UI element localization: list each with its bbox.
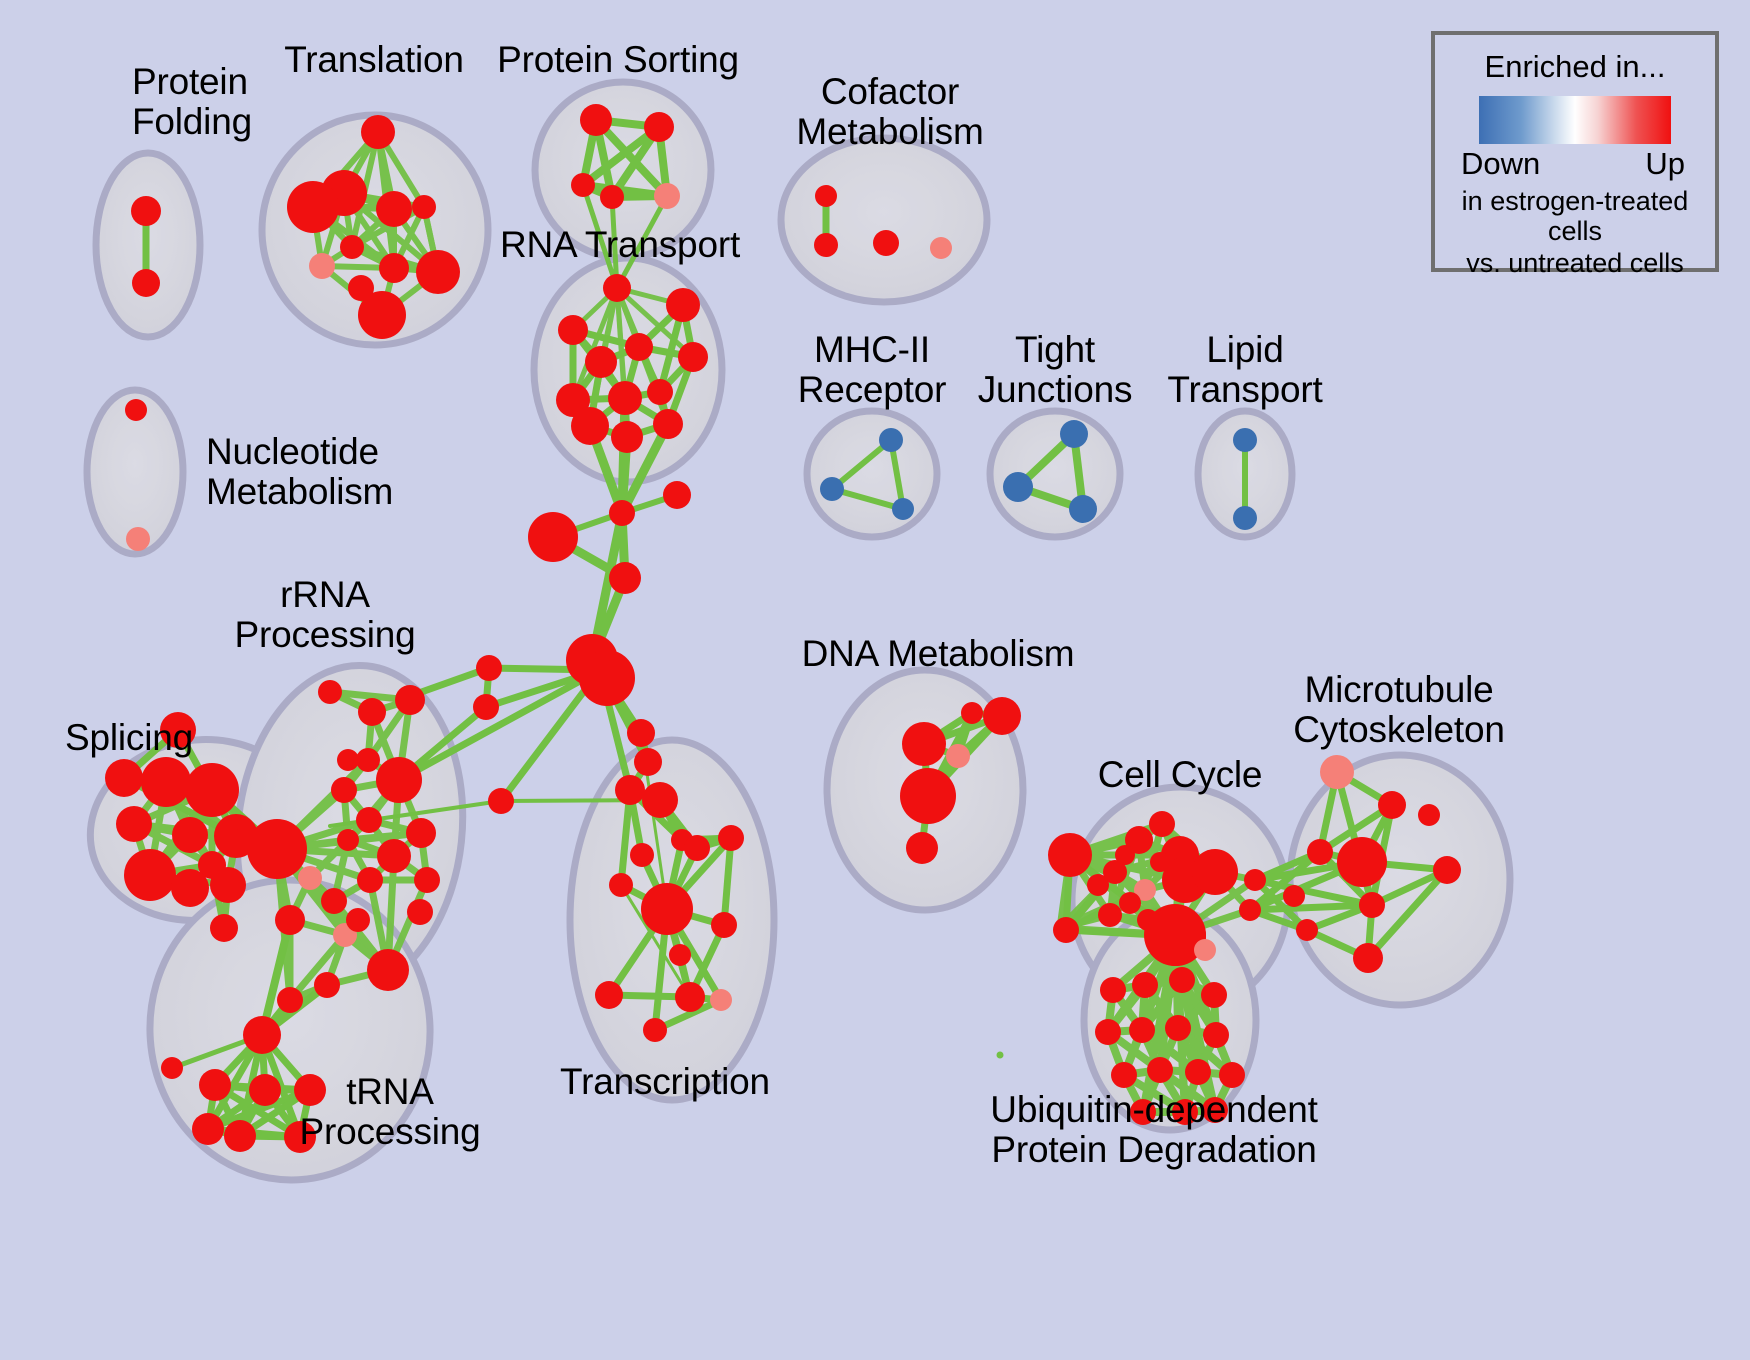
node <box>611 421 643 453</box>
node <box>609 562 641 594</box>
legend-endpoints: Down Up <box>1461 146 1689 184</box>
cluster-label-protein-folding: Protein Folding <box>132 62 252 141</box>
node <box>141 757 191 807</box>
node <box>608 381 642 415</box>
node <box>1239 899 1261 921</box>
legend-title: Enriched in... <box>1435 49 1715 85</box>
node <box>356 748 380 772</box>
node <box>171 869 209 907</box>
node <box>571 173 595 197</box>
node <box>710 989 732 1011</box>
legend-caption-line1: in estrogen-treated cells <box>1435 186 1715 246</box>
node <box>185 763 239 817</box>
node <box>407 899 433 925</box>
node <box>1129 1017 1155 1043</box>
node <box>199 1069 231 1101</box>
node <box>116 806 152 842</box>
node <box>287 181 339 233</box>
cluster-label-translation: Translation <box>284 40 463 80</box>
node <box>600 185 624 209</box>
node <box>476 655 502 681</box>
node <box>1111 1062 1137 1088</box>
legend-down-label: Down <box>1461 146 1540 182</box>
node <box>641 883 693 935</box>
node <box>1169 967 1195 993</box>
node <box>416 250 460 294</box>
node <box>309 253 335 279</box>
node <box>126 527 150 551</box>
node <box>647 379 673 405</box>
cluster-label-tight-junctions: Tight Junctions <box>978 330 1133 409</box>
node <box>298 866 322 890</box>
node <box>1233 428 1257 452</box>
node <box>961 702 983 724</box>
node <box>1048 833 1092 877</box>
node <box>1283 885 1305 907</box>
node <box>1100 977 1126 1003</box>
node <box>224 1120 256 1152</box>
legend-color-bar <box>1479 96 1671 144</box>
node <box>630 843 654 867</box>
node <box>528 512 578 562</box>
node <box>627 719 655 747</box>
cluster-label-nucleotide-metabolism: Nucleotide Metabolism <box>206 432 393 511</box>
node <box>892 498 914 520</box>
node <box>1233 506 1257 530</box>
node <box>361 115 395 149</box>
node <box>1433 856 1461 884</box>
node <box>643 1018 667 1042</box>
node <box>105 759 143 797</box>
node <box>678 342 708 372</box>
node <box>356 807 382 833</box>
node <box>1219 1062 1245 1088</box>
node <box>161 1057 183 1079</box>
legend-up-label: Up <box>1645 146 1685 182</box>
node <box>340 235 364 259</box>
node <box>331 777 357 803</box>
node <box>669 944 691 966</box>
cluster-label-rna-transport: RNA Transport <box>500 225 740 265</box>
node <box>1201 982 1227 1008</box>
node <box>675 982 705 1012</box>
node <box>609 873 633 897</box>
node <box>663 481 691 509</box>
node <box>210 867 246 903</box>
node <box>644 112 674 142</box>
node <box>1095 1019 1121 1045</box>
node <box>210 914 238 942</box>
node <box>1337 837 1387 887</box>
cluster-label-rrna-processing: rRNA Processing <box>234 575 415 654</box>
node <box>1378 791 1406 819</box>
node <box>1003 472 1033 502</box>
node <box>358 291 406 339</box>
node <box>642 782 678 818</box>
cluster-label-cofactor-metabolism: Cofactor Metabolism <box>796 72 983 151</box>
node <box>815 185 837 207</box>
node <box>1098 903 1122 927</box>
node <box>571 407 609 445</box>
node <box>357 867 383 893</box>
node <box>930 237 952 259</box>
node <box>1165 1015 1191 1041</box>
node <box>558 315 588 345</box>
node <box>1069 495 1097 523</box>
node <box>946 744 970 768</box>
node <box>277 987 303 1013</box>
node <box>1119 892 1141 914</box>
node <box>625 333 653 361</box>
node <box>1244 869 1266 891</box>
node <box>718 825 744 851</box>
node <box>395 685 425 715</box>
node <box>1418 804 1440 826</box>
node <box>132 269 160 297</box>
node <box>654 183 680 209</box>
node <box>337 829 359 851</box>
node <box>172 817 208 853</box>
node <box>414 867 440 893</box>
cluster-label-dna-metabolism: DNA Metabolism <box>802 634 1075 674</box>
node <box>318 680 342 704</box>
cluster-label-microtubule-cytoskeleton: Microtubule Cytoskeleton <box>1293 670 1505 749</box>
node <box>125 399 147 421</box>
node <box>131 196 161 226</box>
node <box>814 233 838 257</box>
node <box>906 832 938 864</box>
node <box>321 888 347 914</box>
node <box>1353 943 1383 973</box>
node <box>275 905 305 935</box>
node <box>376 191 412 227</box>
node <box>615 775 645 805</box>
node <box>580 104 612 136</box>
node <box>900 768 956 824</box>
node <box>1185 1059 1211 1085</box>
legend-box: Enriched in... Down Up in estrogen-treat… <box>1431 31 1719 272</box>
cluster-label-transcription: Transcription <box>560 1062 770 1102</box>
cluster-label-ubiquitin-degradation: Ubiquitin-dependent Protein Degradation <box>990 1090 1317 1169</box>
halo-tight-junctions <box>990 411 1120 537</box>
node <box>1192 849 1238 895</box>
node <box>376 757 422 803</box>
node <box>1060 420 1088 448</box>
node <box>249 1074 281 1106</box>
node <box>124 849 176 901</box>
node <box>820 477 844 501</box>
node <box>873 230 899 256</box>
node <box>243 1016 281 1054</box>
cluster-label-cell-cycle: Cell Cycle <box>1098 755 1263 795</box>
cluster-label-protein-sorting: Protein Sorting <box>497 40 739 80</box>
cluster-label-splicing: Splicing <box>65 718 193 758</box>
node <box>1087 874 1109 896</box>
node <box>1359 892 1385 918</box>
node <box>412 195 436 219</box>
node <box>1115 845 1135 865</box>
node <box>983 697 1021 735</box>
enrichment-map-figure: Protein FoldingTranslationProtein Sortin… <box>0 0 1750 1360</box>
node <box>1203 1022 1229 1048</box>
node <box>379 253 409 283</box>
cluster-label-mhc-ii-receptor: MHC-II Receptor <box>798 330 947 409</box>
node <box>579 650 635 706</box>
halo-mhc <box>807 411 937 537</box>
node <box>1147 1057 1173 1083</box>
node <box>367 949 409 991</box>
node <box>247 819 307 879</box>
node <box>1053 917 1079 943</box>
node <box>1307 839 1333 865</box>
node <box>666 288 700 322</box>
node <box>653 409 683 439</box>
node <box>1194 939 1216 961</box>
node <box>358 698 386 726</box>
node <box>406 818 436 848</box>
node <box>1320 755 1354 789</box>
node <box>585 346 617 378</box>
cluster-label-lipid-transport: Lipid Transport <box>1167 330 1322 409</box>
node <box>902 722 946 766</box>
node <box>634 748 662 776</box>
node <box>603 274 631 302</box>
node <box>879 428 903 452</box>
node <box>377 839 411 873</box>
node <box>337 749 359 771</box>
node <box>609 500 635 526</box>
legend-caption-line2: vs. untreated cells <box>1435 248 1715 278</box>
node <box>488 788 514 814</box>
node <box>473 694 499 720</box>
node <box>1296 919 1318 941</box>
node <box>1150 852 1170 872</box>
node <box>192 1113 224 1145</box>
node <box>684 835 710 861</box>
node <box>1149 811 1175 837</box>
node <box>346 908 370 932</box>
cluster-label-trna-processing: tRNA Processing <box>299 1072 480 1151</box>
halo-cofactor <box>781 138 987 302</box>
node <box>595 981 623 1009</box>
node <box>314 972 340 998</box>
node <box>711 912 737 938</box>
node <box>222 828 242 848</box>
node <box>1132 972 1158 998</box>
